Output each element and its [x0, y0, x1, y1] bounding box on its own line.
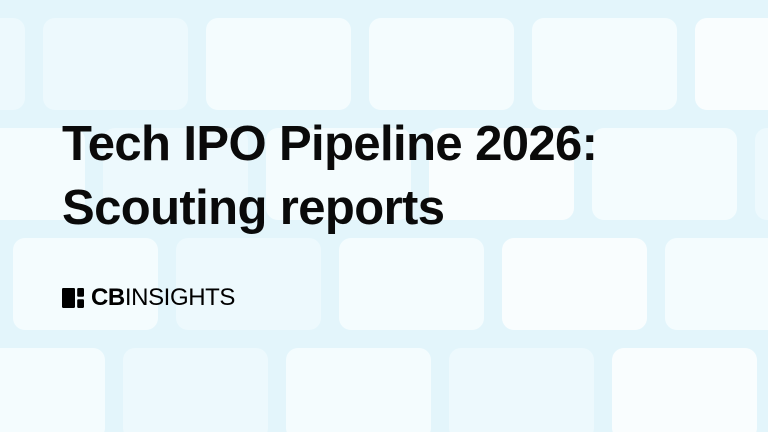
brick-tile — [612, 348, 757, 432]
cb-insights-wordmark: CB INSIGHTS — [91, 286, 235, 310]
brick-tile — [0, 18, 25, 110]
brick-tile — [755, 128, 768, 220]
brick-tile — [502, 238, 647, 330]
brick-tile — [123, 348, 268, 432]
brick-tile — [695, 18, 768, 110]
brick-row — [0, 18, 768, 110]
brick-tile — [369, 18, 514, 110]
brick-row — [0, 348, 768, 432]
title-line-2: Scouting reports — [62, 176, 722, 240]
brick-tile — [339, 238, 484, 330]
slide-canvas: Tech IPO Pipeline 2026: Scouting reports… — [0, 0, 768, 432]
brick-tile — [0, 348, 105, 432]
brick-tile — [286, 348, 431, 432]
page-title: Tech IPO Pipeline 2026: Scouting reports — [62, 112, 722, 240]
wordmark-cb: CB — [91, 286, 125, 310]
brick-tile — [532, 18, 677, 110]
brick-tile — [665, 238, 768, 330]
brick-tile — [206, 18, 351, 110]
brick-tile — [449, 348, 594, 432]
cb-insights-logo: CB INSIGHTS — [62, 286, 235, 310]
brick-tile — [43, 18, 188, 110]
wordmark-insights: INSIGHTS — [125, 286, 235, 310]
cb-insights-mark-icon — [62, 288, 84, 308]
title-line-1: Tech IPO Pipeline 2026: — [62, 112, 722, 176]
